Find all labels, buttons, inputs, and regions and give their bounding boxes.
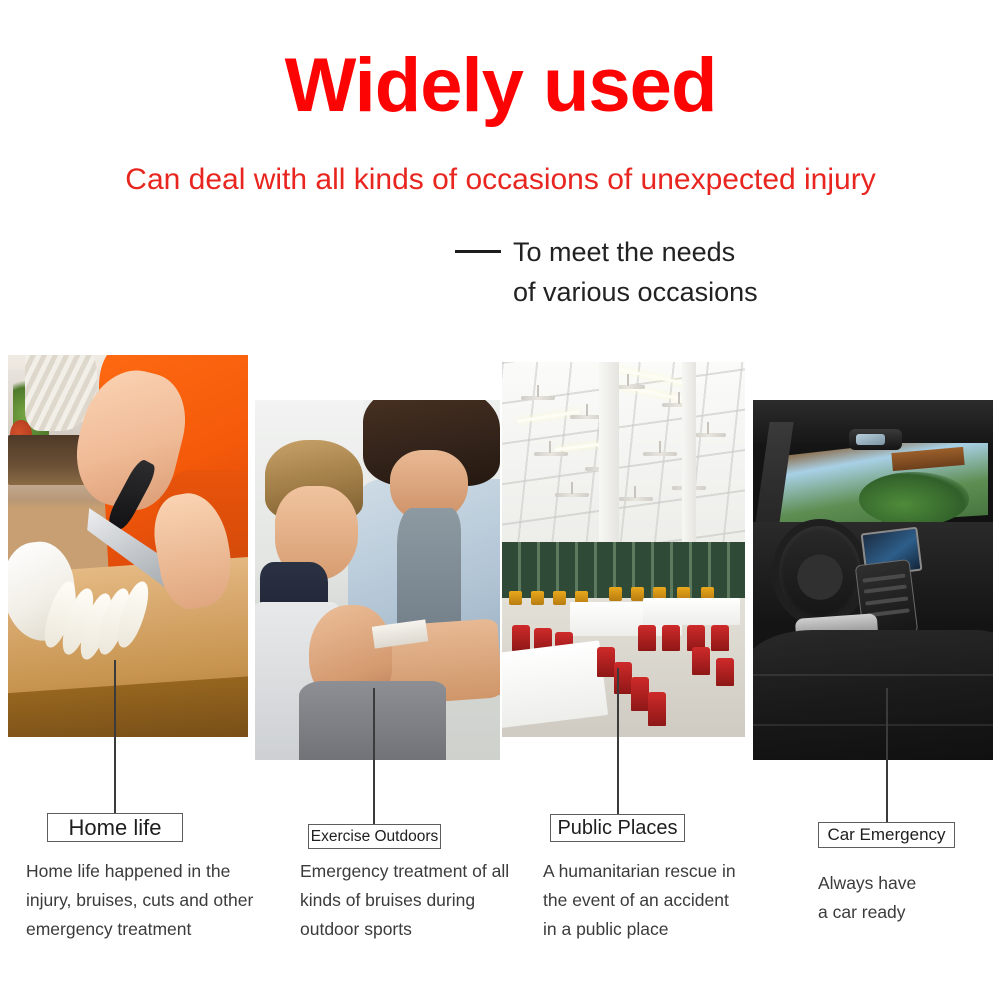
description-line: Home life happened in the (26, 857, 288, 886)
leader-line-car-emergency (886, 688, 888, 822)
leader-line-exercise-outdoors (373, 688, 375, 825)
page-title: Widely used (0, 46, 1001, 126)
caption-label-exercise-outdoors: Exercise Outdoors (311, 828, 439, 846)
description-line: a car ready (818, 898, 988, 927)
photo-treating-boy-knee (255, 400, 500, 760)
description-exercise-outdoors: Emergency treatment of all kinds of brui… (300, 857, 540, 944)
description-public-places: A humanitarian rescue in the event of an… (543, 857, 755, 944)
description-home-life: Home life happened in the injury, bruise… (26, 857, 288, 944)
photo-cafeteria (502, 362, 745, 737)
leader-line-home-life (114, 660, 116, 815)
description-line: Always have (818, 869, 988, 898)
caption-box-car-emergency: Car Emergency (818, 822, 955, 848)
caption-box-home-life: Home life (47, 813, 183, 842)
leader-line-public-places (617, 668, 619, 815)
photo-car-interior (753, 400, 993, 760)
description-line: the event of an accident (543, 886, 755, 915)
description-car-emergency: Always have a car ready (818, 869, 988, 927)
description-line: outdoor sports (300, 915, 540, 944)
description-line: kinds of bruises during (300, 886, 540, 915)
page-subtitle: Can deal with all kinds of occasions of … (0, 160, 1001, 200)
description-line: emergency treatment (26, 915, 288, 944)
description-line: in a public place (543, 915, 755, 944)
photo-panel-home-life (8, 355, 248, 737)
caption-label-public-places: Public Places (557, 817, 677, 840)
caption-label-car-emergency: Car Emergency (827, 825, 945, 845)
photo-panel-public-places (502, 362, 745, 737)
tagline-text: To meet the needs of various occasions (513, 232, 758, 312)
infographic-page: Widely used Can deal with all kinds of o… (0, 0, 1001, 1001)
description-line: injury, bruises, cuts and other (26, 886, 288, 915)
em-dash-icon (455, 250, 501, 253)
caption-box-public-places: Public Places (550, 814, 685, 842)
caption-box-exercise-outdoors: Exercise Outdoors (308, 824, 441, 849)
photo-kitchen-cutting (8, 355, 248, 737)
tagline-line-2: of various occasions (513, 272, 758, 312)
description-line: A humanitarian rescue in (543, 857, 755, 886)
tagline: To meet the needs of various occasions (455, 232, 935, 312)
tagline-line-1: To meet the needs (513, 232, 758, 272)
caption-label-home-life: Home life (69, 815, 162, 841)
photo-panel-car-emergency (753, 400, 993, 760)
photo-panel-exercise-outdoors (255, 400, 500, 760)
description-line: Emergency treatment of all (300, 857, 540, 886)
